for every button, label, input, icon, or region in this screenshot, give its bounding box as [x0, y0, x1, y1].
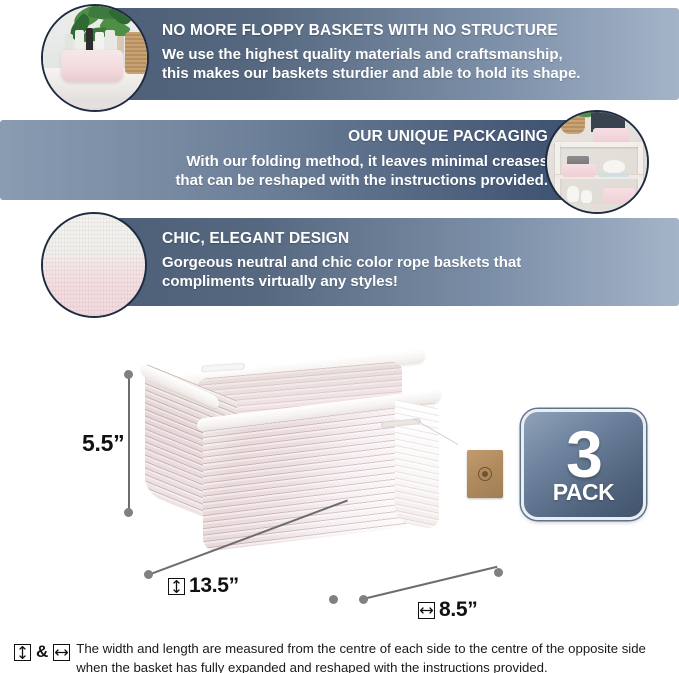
feature-banner-packaging: OUR UNIQUE PACKAGING With our folding me…: [0, 120, 679, 200]
length-value: 13.5”: [189, 574, 239, 598]
feature-body: We use the highest quality materials and…: [162, 46, 662, 84]
feature-banner-design: CHIC, ELEGANT DESIGN Gorgeous neutral an…: [0, 218, 679, 306]
feature-title: OUR UNIQUE PACKAGING: [348, 128, 548, 145]
rope-basket-product-image: [145, 358, 455, 573]
pack-label: PACK: [553, 481, 614, 504]
footnote-text: The width and length are measured from t…: [76, 640, 646, 673]
vertical-arrow-icon: [168, 578, 185, 595]
feature-title: CHIC, ELEGANT DESIGN: [162, 230, 662, 247]
dimension-dot: [124, 508, 133, 517]
banner-text-block: CHIC, ELEGANT DESIGN Gorgeous neutral an…: [162, 230, 662, 292]
banner-text-block: NO MORE FLOPPY BASKETS WITH NO STRUCTURE…: [162, 22, 662, 84]
dimension-dot: [124, 370, 133, 379]
brand-hang-tag: [467, 450, 503, 498]
bathroom-basket-photo: [41, 4, 149, 112]
product-infographic: NO MORE FLOPPY BASKETS WITH NO STRUCTURE…: [0, 0, 679, 673]
height-dimension-line: [128, 377, 130, 515]
product-dimension-diagram: 5.5” 13.5” 8.5” 3: [0, 330, 679, 630]
brand-logo-icon: [478, 467, 492, 481]
length-dimension-label: 13.5”: [168, 574, 239, 598]
feature-body: Gorgeous neutral and chic color rope bas…: [162, 254, 662, 292]
height-dimension-label: 5.5”: [82, 430, 124, 457]
height-value: 5.5”: [82, 430, 124, 457]
pack-count: 3: [566, 425, 601, 483]
width-dimension-label: 8.5”: [418, 598, 478, 622]
vertical-arrow-icon: [14, 644, 31, 661]
shelf-baskets-photo: [545, 110, 649, 214]
dimension-dot: [494, 568, 503, 577]
feature-banner-structure: NO MORE FLOPPY BASKETS WITH NO STRUCTURE…: [0, 8, 679, 100]
horizontal-arrow-icon: [53, 644, 70, 661]
three-pack-badge: 3 PACK: [521, 409, 646, 520]
dimension-dot: [144, 570, 153, 579]
ampersand-label: &: [36, 642, 48, 662]
banner-text-block: OUR UNIQUE PACKAGING With our folding me…: [0, 128, 548, 191]
dimension-dot: [359, 595, 368, 604]
rope-texture-photo: [41, 212, 147, 318]
feature-body: With our folding method, it leaves minim…: [0, 153, 548, 191]
dimension-dot: [329, 595, 338, 604]
measurement-footnote: & The width and length are measured from…: [14, 640, 669, 673]
horizontal-arrow-icon: [418, 602, 435, 619]
width-value: 8.5”: [439, 598, 478, 622]
feature-title: NO MORE FLOPPY BASKETS WITH NO STRUCTURE: [162, 22, 662, 39]
footnote-icons: &: [14, 640, 70, 662]
